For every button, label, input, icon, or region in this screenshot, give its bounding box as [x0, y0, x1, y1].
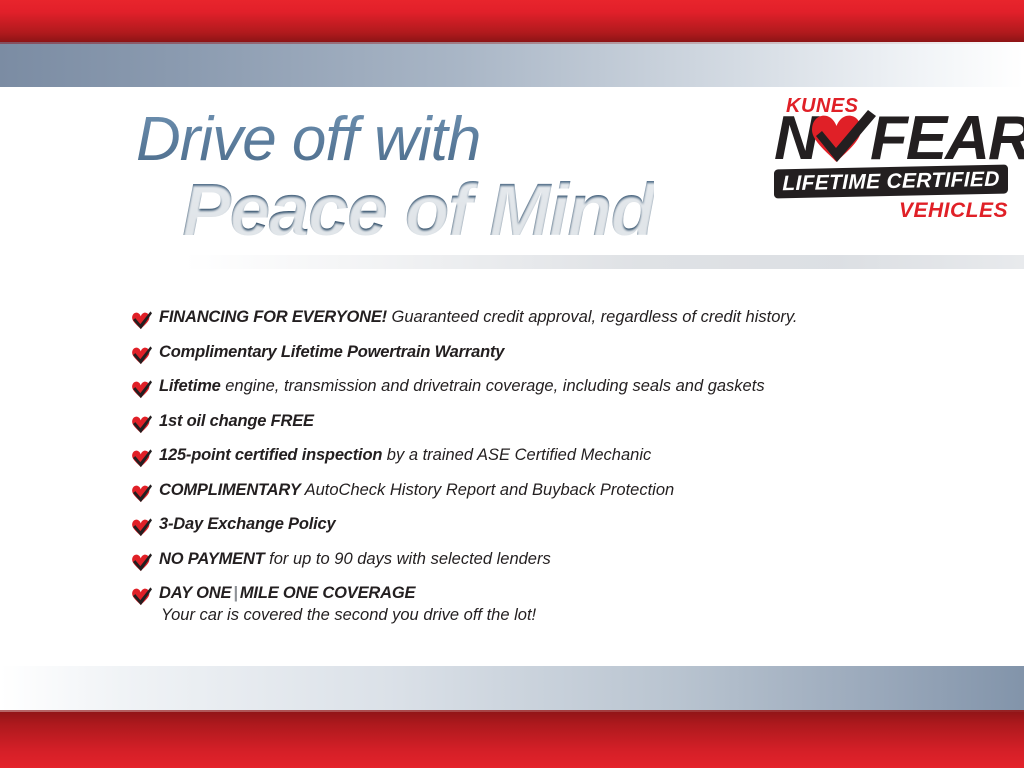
logo-lifetime-banner: LIFETIME CERTIFIED: [774, 165, 1008, 199]
list-item-text: NO PAYMENT for up to 90 days with select…: [159, 550, 970, 569]
heart-check-icon: [130, 586, 152, 608]
heart-check-icon: [130, 517, 152, 539]
list-item-regular: by a trained ASE Certified Mechanic: [382, 446, 651, 464]
heart-check-icon: [130, 448, 152, 470]
list-item-body: 125-point certified inspection by a trai…: [159, 446, 970, 465]
list-item-body: Lifetime engine, transmission and drivet…: [159, 377, 970, 396]
bottom-red-bar: [0, 710, 1024, 768]
list-item-body: NO PAYMENT for up to 90 days with select…: [159, 550, 970, 569]
list-item: Complimentary Lifetime Powertrain Warran…: [130, 343, 970, 367]
list-item-bold: 3-Day Exchange Policy: [159, 515, 335, 533]
bottom-gray-gradient-bar: [0, 666, 1024, 710]
list-item: 1st oil change FREE: [130, 412, 970, 436]
list-item-regular: Guaranteed credit approval, regardless o…: [387, 308, 798, 326]
header: Drive off with Peace of Mind KUNES N FEA…: [0, 87, 1024, 259]
list-item-regular: for up to 90 days with selected lenders: [265, 550, 551, 568]
list-item-body: DAY ONE|MILE ONE COVERAGE Your car is co…: [159, 584, 970, 625]
list-item-bold: FINANCING FOR EVERYONE!: [159, 308, 387, 326]
heart-check-icon: [806, 110, 878, 172]
list-item-text: Complimentary Lifetime Powertrain Warran…: [159, 343, 970, 362]
list-item-text: COMPLIMENTARY AutoCheck History Report a…: [159, 481, 970, 500]
list-item-bold: NO PAYMENT: [159, 550, 265, 568]
top-gray-gradient-bar: [0, 42, 1024, 87]
list-item: NO PAYMENT for up to 90 days with select…: [130, 550, 970, 574]
list-item-bold-b: MILE ONE COVERAGE: [240, 584, 415, 602]
list-item-body: FINANCING FOR EVERYONE! Guaranteed credi…: [159, 308, 970, 327]
list-item-text: 125-point certified inspection by a trai…: [159, 446, 970, 465]
header-divider: [0, 255, 1024, 269]
heart-check-icon: [130, 483, 152, 505]
heart-check-icon: [130, 414, 152, 436]
list-item-bold: 125-point certified inspection: [159, 446, 382, 464]
list-item: 3-Day Exchange Policy: [130, 515, 970, 539]
list-item-text: FINANCING FOR EVERYONE! Guaranteed credi…: [159, 308, 970, 327]
logo-lifetime-banner-text: LIFETIME CERTIFIED: [774, 165, 1008, 199]
list-item-bold-a: DAY ONE: [159, 584, 231, 602]
list-item-body: Complimentary Lifetime Powertrain Warran…: [159, 343, 970, 362]
list-item-bold: Complimentary Lifetime Powertrain Warran…: [159, 343, 504, 361]
list-item-text: 3-Day Exchange Policy: [159, 515, 970, 534]
logo-word-fear: FEAR: [870, 108, 1024, 170]
heart-check-icon: [130, 310, 152, 332]
list-item-body: 3-Day Exchange Policy: [159, 515, 970, 534]
list-item-text: 1st oil change FREE: [159, 412, 970, 431]
list-item-regular: engine, transmission and drivetrain cove…: [221, 377, 765, 395]
list-item-bold: Lifetime: [159, 377, 221, 395]
heart-check-icon: [130, 379, 152, 401]
list-item-text: DAY ONE|MILE ONE COVERAGE: [159, 584, 970, 603]
headline-line-1: Drive off with: [136, 109, 654, 171]
list-item: 125-point certified inspection by a trai…: [130, 446, 970, 470]
list-item-bold: COMPLIMENTARY: [159, 481, 301, 499]
kunes-no-fear-logo: KUNES N FEAR LIFETIME CERTIFIED VEHICLES: [772, 95, 1012, 237]
list-item: DAY ONE|MILE ONE COVERAGE Your car is co…: [130, 584, 970, 625]
benefits-list: FINANCING FOR EVERYONE! Guaranteed credi…: [130, 308, 970, 636]
list-item-body: COMPLIMENTARY AutoCheck History Report a…: [159, 481, 970, 500]
list-item: Lifetime engine, transmission and drivet…: [130, 377, 970, 401]
logo-suffix-vehicles: VEHICLES: [899, 199, 1008, 223]
headline-line-2: Peace of Mind: [136, 173, 654, 247]
list-item-subline: Your car is covered the second you drive…: [159, 606, 970, 625]
list-item-regular: AutoCheck History Report and Buyback Pro…: [301, 481, 675, 499]
list-item: COMPLIMENTARY AutoCheck History Report a…: [130, 481, 970, 505]
list-item-text: Lifetime engine, transmission and drivet…: [159, 377, 970, 396]
list-item-body: 1st oil change FREE: [159, 412, 970, 431]
heart-check-icon: [130, 552, 152, 574]
list-item-separator: |: [231, 584, 240, 602]
top-red-bar: [0, 0, 1024, 42]
list-item-bold: 1st oil change FREE: [159, 412, 314, 430]
heart-check-icon: [130, 345, 152, 367]
list-item: FINANCING FOR EVERYONE! Guaranteed credi…: [130, 308, 970, 332]
page-title: Drive off with Peace of Mind: [136, 109, 654, 247]
